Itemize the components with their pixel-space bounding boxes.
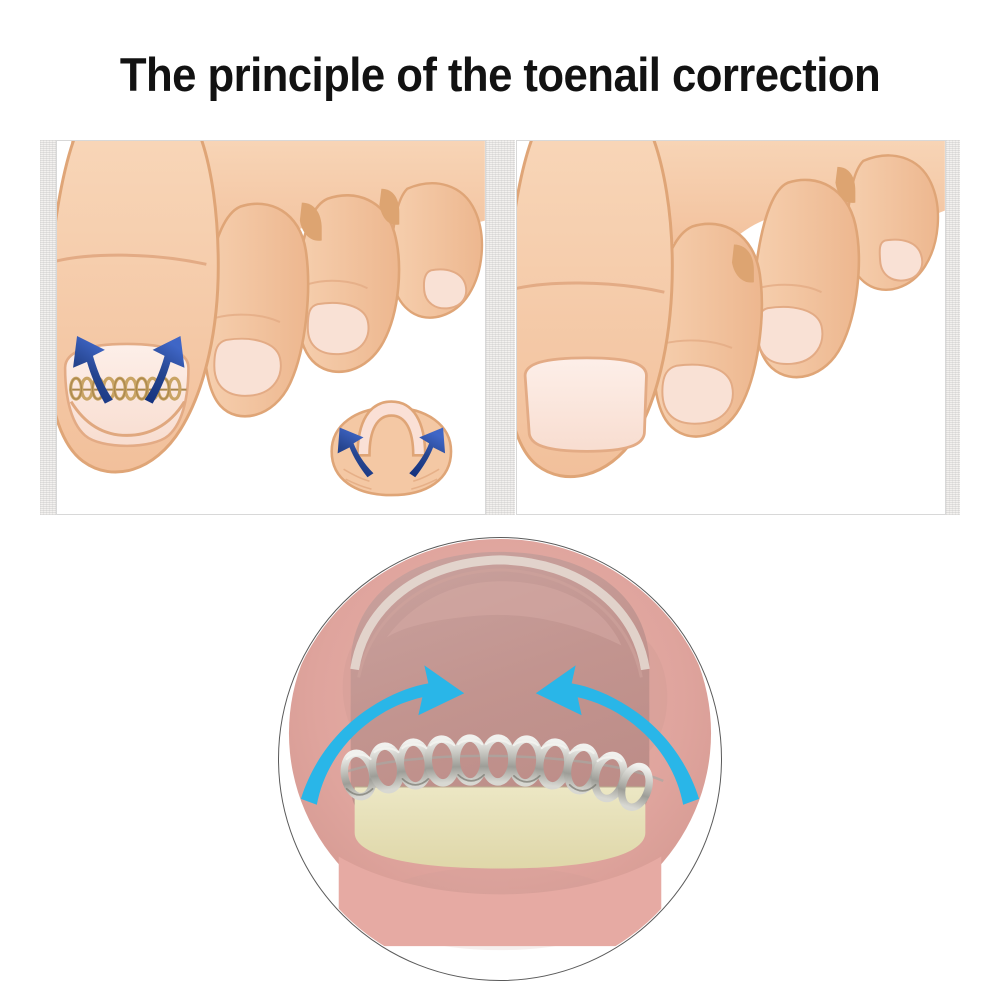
toe-4-nail bbox=[308, 303, 369, 354]
toenail-brace-photograph bbox=[278, 537, 722, 981]
scan-edge-texture-left bbox=[40, 140, 56, 515]
after-correction-illustration bbox=[517, 141, 945, 514]
scan-edge-texture-right bbox=[946, 140, 960, 515]
after-correction-panel bbox=[516, 140, 946, 515]
big-toe-nail-corrected bbox=[525, 358, 646, 451]
toe-5-nail bbox=[880, 240, 922, 281]
before-correction-illustration bbox=[57, 141, 485, 514]
toe-3-nail bbox=[214, 339, 281, 396]
page-root: The principle of the toenail correction bbox=[0, 0, 1000, 1000]
before-correction-panel bbox=[56, 140, 486, 515]
page-title: The principle of the toenail correction bbox=[35, 48, 965, 102]
toe-5-nail bbox=[424, 269, 466, 308]
scan-edge-texture-middle bbox=[486, 140, 515, 515]
toenail-photo-illustration bbox=[279, 538, 721, 980]
toe-4-nail bbox=[758, 307, 823, 364]
toe-3-nail bbox=[662, 365, 732, 424]
